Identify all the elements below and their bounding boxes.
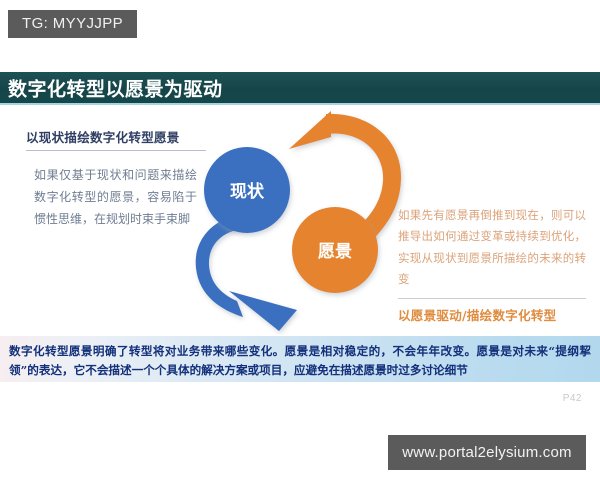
vision-node: 愿景 xyxy=(292,207,378,293)
summary-text: 数字化转型愿景明确了转型将对业务带来哪些变化。愿景是相对稳定的，不会年年改变。愿… xyxy=(9,342,591,380)
left-heading: 以现状描绘数字化转型愿景 xyxy=(26,127,206,146)
source-tag-label: TG: MYYJJPP xyxy=(22,15,123,32)
vision-cycle-diagram: 现状 愿景 xyxy=(185,105,410,335)
right-heading: 以愿景驱动/描绘数字化转型 xyxy=(398,305,586,324)
right-body-text: 如果先有愿景再倒推到现在，则可以推导出如何通过变革或持续到优化，实现从现状到愿景… xyxy=(398,205,586,290)
slide-content-area: 以现状描绘数字化转型愿景 如果仅基于现状和问题来描绘数字化转型的愿景，容易陷于惯… xyxy=(0,105,600,335)
left-body-text: 如果仅基于现状和问题来描绘数字化转型的愿景，容易陷于惯性思维，在规划时束手束脚 xyxy=(34,164,197,231)
watermark-url: www.portal2elysium.com xyxy=(402,444,571,461)
left-text-block: 以现状描绘数字化转型愿景 如果仅基于现状和问题来描绘数字化转型的愿景，容易陷于惯… xyxy=(26,127,206,231)
current-state-node: 现状 xyxy=(204,147,290,233)
summary-banner: 数字化转型愿景明确了转型将对业务带来哪些变化。愿景是相对稳定的，不会年年改变。愿… xyxy=(0,336,600,382)
slide-title: 数字化转型以愿景为驱动 xyxy=(8,74,223,101)
right-heading-divider xyxy=(398,298,586,299)
vision-label: 愿景 xyxy=(318,242,352,262)
slide-title-bar: 数字化转型以愿景为驱动 xyxy=(0,72,600,105)
watermark-badge: www.portal2elysium.com xyxy=(388,435,586,470)
right-text-block: 如果先有愿景再倒推到现在，则可以推导出如何通过变革或持续到优化，实现从现状到愿景… xyxy=(398,205,586,324)
page-number: P42 xyxy=(563,393,582,404)
current-state-label: 现状 xyxy=(230,181,265,202)
source-tag-badge: TG: MYYJJPP xyxy=(8,10,137,38)
left-heading-divider xyxy=(26,150,206,151)
